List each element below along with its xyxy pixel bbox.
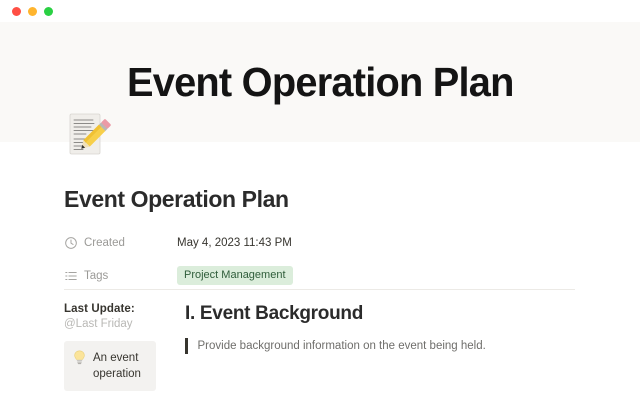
clock-icon xyxy=(64,236,78,250)
app-window: Event Operation Plan xyxy=(0,0,640,400)
property-value-tags[interactable]: Project Management xyxy=(177,266,293,284)
section-heading-event-background[interactable]: I. Event Background xyxy=(185,302,575,326)
content-columns: Last Update: @Last Friday An event opera… xyxy=(0,302,640,391)
property-name-tags: Tags xyxy=(84,270,108,282)
page-body: Event Operation Plan Created May 4, 2023… xyxy=(0,142,640,400)
last-update-value: @Last Friday xyxy=(64,317,164,332)
callout-block[interactable]: An event operation xyxy=(64,341,156,391)
left-column: Last Update: @Last Friday An event opera… xyxy=(64,302,164,391)
property-row-created[interactable]: Created May 4, 2023 11:43 PM xyxy=(64,231,514,254)
banner-title: Event Operation Plan xyxy=(127,62,514,103)
property-label-created: Created xyxy=(64,236,177,250)
property-label-tags: Tags xyxy=(64,269,177,283)
last-update-label: Last Update: xyxy=(64,302,164,317)
quote-text: Provide background information on the ev… xyxy=(198,338,486,354)
maximize-window-button[interactable] xyxy=(44,7,53,16)
property-row-tags[interactable]: Tags Project Management xyxy=(64,264,514,287)
list-icon xyxy=(64,269,78,283)
horizontal-divider xyxy=(64,289,575,290)
quote-bar xyxy=(185,338,188,354)
status-badge[interactable]: Project Management xyxy=(177,266,293,284)
callout-text: An event operation xyxy=(93,350,147,382)
page-title[interactable]: Event Operation Plan xyxy=(64,186,289,213)
property-value-created[interactable]: May 4, 2023 11:43 PM xyxy=(177,237,292,249)
property-name-created: Created xyxy=(84,237,125,249)
window-titlebar xyxy=(0,0,640,22)
minimize-window-button[interactable] xyxy=(28,7,37,16)
close-window-button[interactable] xyxy=(12,7,21,16)
page-properties: Created May 4, 2023 11:43 PM xyxy=(64,231,514,297)
lightbulb-emoji-icon xyxy=(73,350,86,368)
memo-emoji-icon[interactable] xyxy=(64,110,114,160)
right-column: I. Event Background Provide background i… xyxy=(185,302,575,391)
quote-block[interactable]: Provide background information on the ev… xyxy=(185,338,575,354)
